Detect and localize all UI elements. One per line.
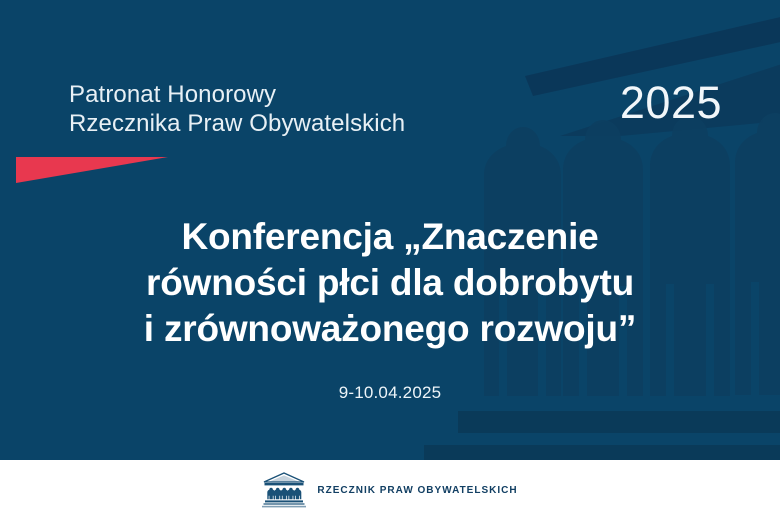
- red-triangle-accent: [16, 157, 168, 185]
- organization-name: RZECZNIK PRAW OBYWATELSKICH: [317, 485, 517, 496]
- conference-banner: Patronat Honorowy Rzecznika Praw Obywate…: [0, 0, 780, 520]
- footer-bar: RZECZNIK PRAW OBYWATELSKICH: [0, 460, 780, 520]
- organization-logo: RZECZNIK PRAW OBYWATELSKICH: [262, 472, 517, 508]
- building-step-band-upper: [458, 411, 780, 433]
- building-step-band-lower: [424, 445, 780, 460]
- banner-stage: Patronat Honorowy Rzecznika Praw Obywate…: [0, 0, 780, 460]
- patronage-text: Patronat Honorowy Rzecznika Praw Obywate…: [69, 80, 405, 138]
- rpo-building-icon: [262, 472, 306, 508]
- event-date: 9-10.04.2025: [0, 383, 780, 403]
- year-label: 2025: [620, 79, 722, 127]
- page-title: Konferencja „Znaczenie równości płci dla…: [0, 214, 780, 352]
